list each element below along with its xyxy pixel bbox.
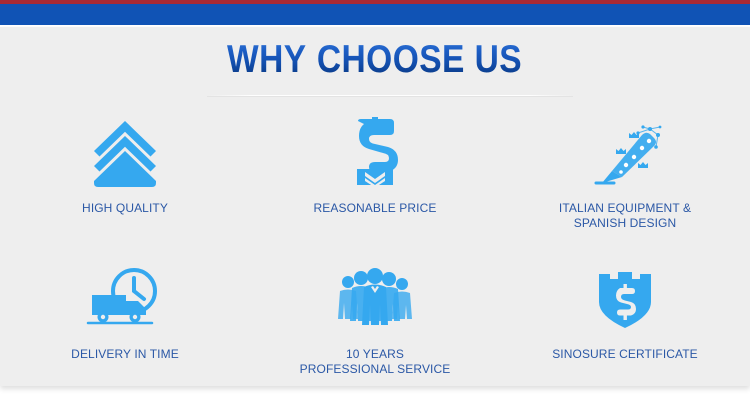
people-group-icon <box>333 259 417 337</box>
feature-item-reasonable-price: REASONABLE PRICE <box>250 109 500 247</box>
feature-label: SINOSURE CERTIFICATE <box>552 347 698 362</box>
design-pen-icon <box>583 115 667 193</box>
shield-dollar-icon <box>583 259 667 337</box>
page-title-wrap: WHYCHOOSE US <box>0 40 750 79</box>
feature-label: REASONABLE PRICE <box>314 201 437 216</box>
content-panel: WHYCHOOSE US HIGH QUALITY <box>0 27 750 386</box>
top-blue-navbar-strip <box>0 4 750 25</box>
title-divider <box>207 95 573 97</box>
delivery-truck-clock-icon <box>83 259 167 337</box>
feature-item-sinosure-certificate: SINOSURE CERTIFICATE <box>500 247 750 385</box>
feature-label: 10 YEARS PROFESSIONAL SERVICE <box>300 347 451 377</box>
page-title-word-why: WHY <box>227 38 307 81</box>
feature-item-professional-service: 10 YEARS PROFESSIONAL SERVICE <box>250 247 500 385</box>
features-grid: HIGH QUALITY <box>0 109 750 384</box>
feature-item-delivery-in-time: DELIVERY IN TIME <box>0 247 250 385</box>
page-title-word-chooseus: CHOOSE US <box>317 38 522 81</box>
feature-item-high-quality: HIGH QUALITY <box>0 109 250 247</box>
why-choose-us-page: WHYCHOOSE US HIGH QUALITY <box>0 0 750 403</box>
feature-label: ITALIAN EQUIPMENT & SPANISH DESIGN <box>559 201 691 231</box>
page-title: WHYCHOOSE US <box>227 40 522 79</box>
feature-label: HIGH QUALITY <box>82 201 168 216</box>
feature-item-italian-equipment-spanish-design: ITALIAN EQUIPMENT & SPANISH DESIGN <box>500 109 750 247</box>
feature-label: DELIVERY IN TIME <box>71 347 179 362</box>
chevron-stack-icon <box>83 115 167 193</box>
dollar-down-arrow-icon <box>333 115 417 193</box>
